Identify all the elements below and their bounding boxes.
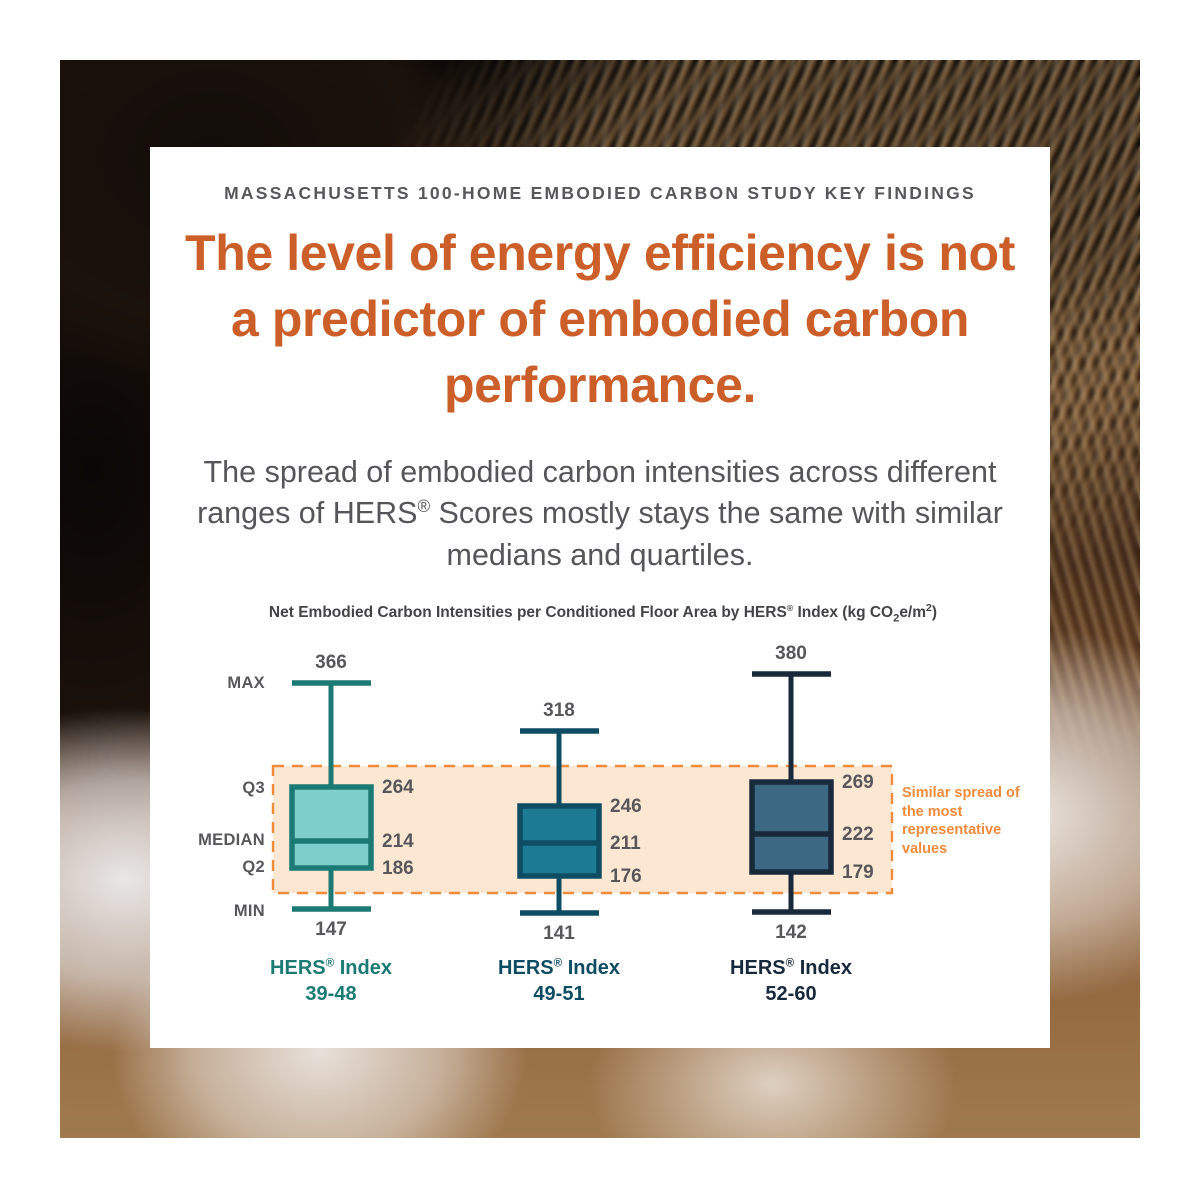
box-iqr-1 (292, 787, 371, 868)
content-card: MASSACHUSETTS 100-HOME EMBODIED CARBON S… (150, 147, 1050, 1048)
value-min-3: 142 (741, 922, 841, 944)
axis-label-q2: Q2 (150, 858, 265, 877)
value-median-1: 214 (382, 831, 414, 853)
category-1-hers: HERS (270, 957, 326, 979)
value-min-2: 141 (509, 923, 609, 945)
category-2-range: 49-51 (533, 983, 584, 1005)
category-3-range: 52-60 (765, 983, 816, 1005)
value-q2-2: 176 (610, 866, 642, 888)
category-label-3: HERS® Index 52-60 (691, 955, 891, 1007)
axis-label-min: MIN (150, 902, 265, 921)
value-q2-1: 186 (382, 858, 414, 880)
category-1-index: Index (334, 957, 392, 979)
registered-mark-cat-3: ® (786, 956, 795, 969)
value-q3-2: 246 (610, 796, 642, 818)
highlight-annotation: Similar spread of the most representativ… (902, 784, 1027, 858)
registered-mark-cat-2: ® (554, 956, 563, 969)
category-label-1: HERS® Index 39-48 (231, 955, 431, 1007)
category-2-index: Index (562, 957, 620, 979)
category-1-range: 39-48 (305, 983, 356, 1005)
value-median-3: 222 (842, 824, 874, 846)
value-median-2: 211 (610, 833, 641, 855)
value-max-2: 318 (509, 700, 609, 722)
value-q3-1: 264 (382, 777, 414, 799)
box-plot-chart: MAX Q3 MEDIAN Q2 MIN 366 264 214 186 147… (150, 147, 1050, 1048)
chart-svg (150, 147, 1050, 1048)
value-max-3: 380 (741, 643, 841, 665)
value-q2-3: 179 (842, 862, 874, 884)
axis-label-median: MEDIAN (150, 831, 265, 850)
registered-mark-cat-1: ® (326, 956, 335, 969)
value-q3-3: 269 (842, 772, 874, 794)
category-3-hers: HERS (730, 957, 786, 979)
box-iqr-3 (752, 782, 831, 872)
category-2-hers: HERS (498, 957, 554, 979)
axis-label-max: MAX (150, 674, 265, 693)
category-label-2: HERS® Index 49-51 (459, 955, 659, 1007)
value-min-1: 147 (281, 919, 381, 941)
axis-label-q3: Q3 (150, 779, 265, 798)
infographic-root: MASSACHUSETTS 100-HOME EMBODIED CARBON S… (0, 0, 1200, 1200)
value-max-1: 366 (281, 652, 381, 674)
category-3-index: Index (794, 957, 852, 979)
